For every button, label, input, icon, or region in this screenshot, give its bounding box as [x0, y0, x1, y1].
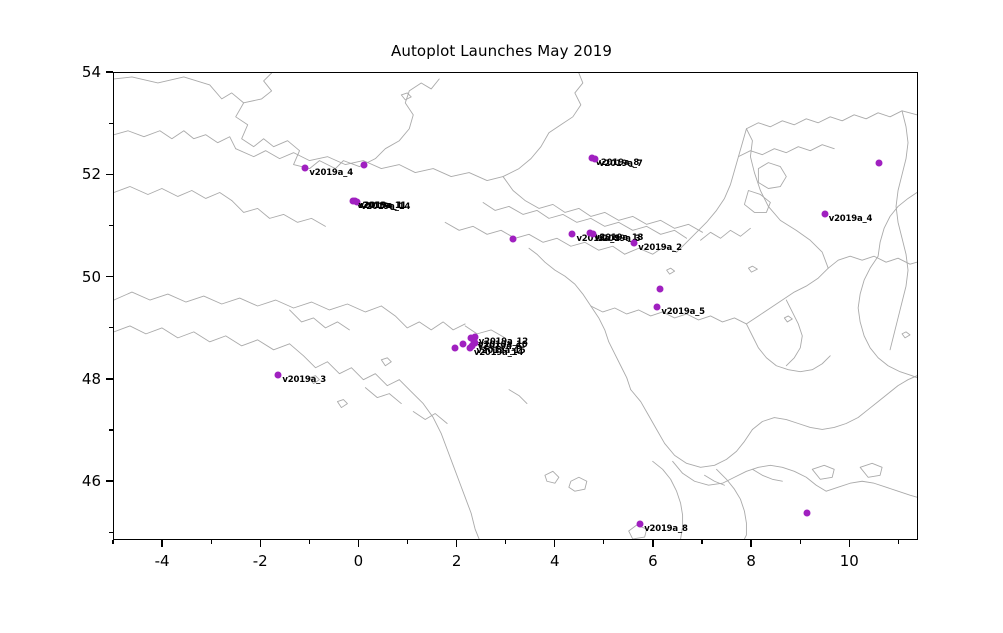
data-point-marker [351, 198, 358, 205]
data-point-marker [275, 371, 282, 378]
y-axis-minor-tick [109, 429, 113, 430]
data-point-label: v2019a_7 [599, 159, 643, 169]
data-point-marker [466, 345, 473, 352]
data-point-marker [590, 230, 597, 237]
data-point-marker [569, 231, 576, 238]
x-axis-tick-label: -4 [142, 552, 182, 570]
y-axis-tick-label: 54 [65, 63, 101, 81]
data-point-label: v2019a_5 [661, 307, 705, 317]
data-point-label: v2019a_14 [474, 348, 523, 358]
data-point-marker [631, 239, 638, 246]
x-axis-tick [750, 540, 751, 547]
y-axis-tick [106, 378, 113, 379]
y-axis-tick-label: 52 [65, 165, 101, 183]
x-axis-tick [456, 540, 457, 547]
x-axis-tick-label: 10 [829, 552, 869, 570]
y-axis-tick-label: 48 [65, 370, 101, 388]
x-axis-tick [358, 540, 359, 547]
y-axis-minor-tick [109, 123, 113, 124]
data-point-label: v2019a_1 [359, 201, 403, 211]
x-axis-minor-tick [505, 540, 506, 544]
data-point-label: v2019a_8 [644, 524, 688, 534]
data-point-label: v2019a_2 [638, 243, 682, 253]
data-point-marker [509, 236, 516, 243]
data-point-label: v2019a_3 [282, 375, 326, 385]
x-axis-tick-label: 6 [633, 552, 673, 570]
x-axis-minor-tick [800, 540, 801, 544]
x-axis-tick [849, 540, 850, 547]
x-axis-tick-label: 4 [535, 552, 575, 570]
data-point-marker [657, 285, 664, 292]
data-point-marker [592, 155, 599, 162]
x-axis-tick-label: 0 [338, 552, 378, 570]
y-axis-minor-tick [109, 532, 113, 533]
data-point-marker [637, 521, 644, 528]
x-axis-tick [161, 540, 162, 547]
x-axis-minor-tick [309, 540, 310, 544]
y-axis-tick [106, 174, 113, 175]
x-axis-tick [652, 540, 653, 547]
data-point-marker [875, 159, 882, 166]
data-point-marker [452, 345, 459, 352]
x-axis-minor-tick [112, 540, 113, 544]
y-axis-tick-label: 46 [65, 472, 101, 490]
x-axis-tick [260, 540, 261, 547]
x-axis-minor-tick [898, 540, 899, 544]
data-point-label: v2019a_4 [829, 214, 873, 224]
plot-area: v2019a_4v2019a_11v2019a_14v2019a_1v2019a… [113, 72, 918, 540]
x-axis-minor-tick [211, 540, 212, 544]
y-axis-tick-label: 50 [65, 268, 101, 286]
chart-canvas: Autoplot Launches May 2019 [0, 0, 1003, 633]
x-axis-tick-label: 2 [437, 552, 477, 570]
y-axis-minor-tick [109, 327, 113, 328]
data-point-marker [804, 509, 811, 516]
y-axis-tick [106, 480, 113, 481]
data-points-layer: v2019a_4v2019a_11v2019a_14v2019a_1v2019a… [114, 73, 917, 539]
x-axis-minor-tick [701, 540, 702, 544]
data-point-marker [459, 341, 466, 348]
x-axis-tick-label: 8 [731, 552, 771, 570]
y-axis-minor-tick [109, 225, 113, 226]
data-point-marker [302, 164, 309, 171]
data-point-marker [361, 162, 368, 169]
x-axis-minor-tick [603, 540, 604, 544]
data-point-marker [654, 304, 661, 311]
data-point-marker [821, 210, 828, 217]
x-axis-minor-tick [407, 540, 408, 544]
data-point-label: v2019a_4 [309, 168, 353, 178]
x-axis-tick [554, 540, 555, 547]
x-axis-tick-label: -2 [240, 552, 280, 570]
y-axis-tick [106, 71, 113, 72]
chart-title: Autoplot Launches May 2019 [0, 42, 1003, 60]
y-axis-tick [106, 276, 113, 277]
